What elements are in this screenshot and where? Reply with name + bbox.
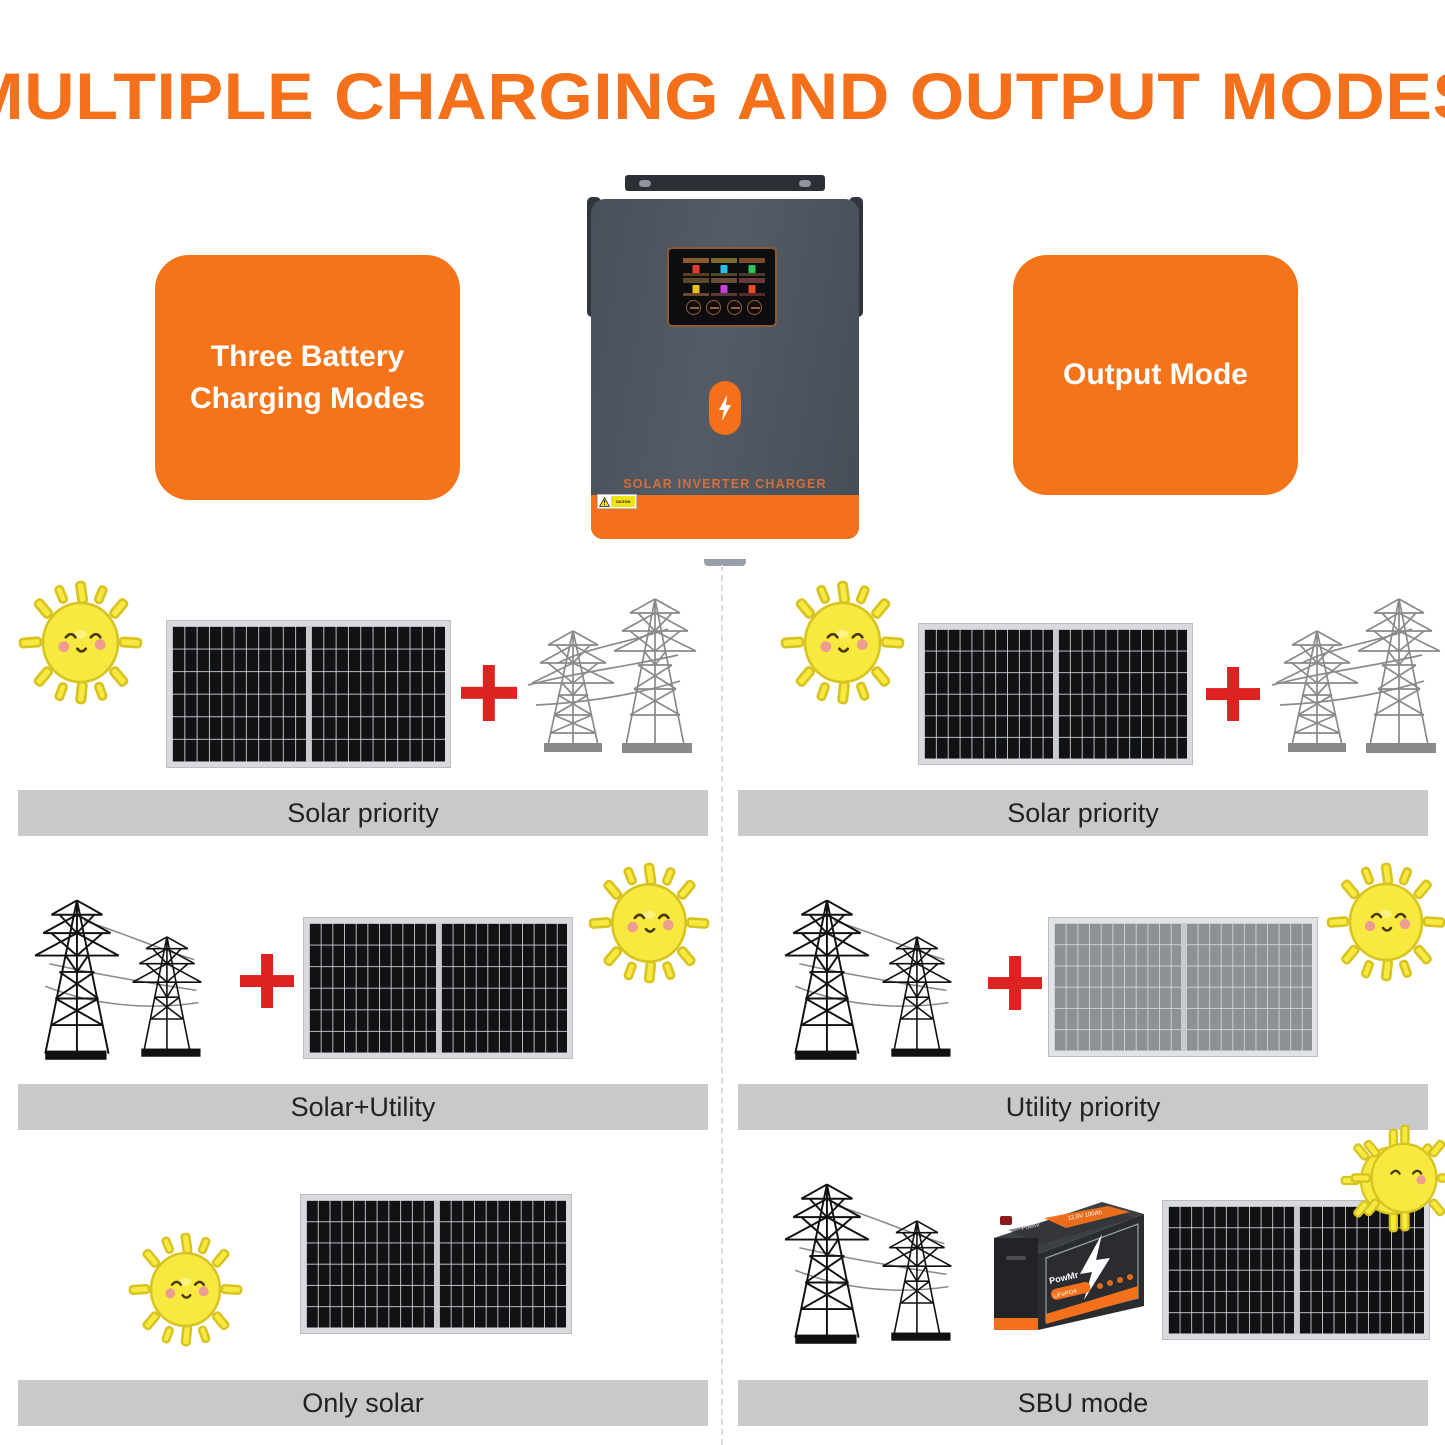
- label-chip-charging-modes: Three Battery Charging Modes: [155, 255, 460, 500]
- caption-bar: Utility priority: [738, 1084, 1428, 1130]
- solar-panel-disabled: [1048, 917, 1318, 1057]
- column-divider: [721, 565, 723, 1445]
- page-title: MULTIPLE CHARGING AND OUTPUT MODES: [0, 58, 1445, 134]
- lcd-screen: [667, 247, 777, 327]
- sun-icon: [780, 580, 905, 705]
- plus-icon: [461, 665, 517, 721]
- wall-mount-bracket: [625, 175, 825, 191]
- lcd-button-2[interactable]: [706, 300, 721, 315]
- inverter-brand-text: SOLAR INVERTER CHARGER: [591, 477, 859, 491]
- inverter-body: SOLAR INVERTER CHARGER CAUTION: [591, 199, 859, 539]
- transmission-towers: [1262, 585, 1445, 771]
- mode-card-output-sbu-mode: 12.8V 100Ah PowMr PowMr LiFePO4: [738, 1152, 1428, 1442]
- sun-icon: [588, 862, 710, 984]
- caption-label: SBU mode: [1018, 1388, 1149, 1419]
- lcd-button-row[interactable]: [686, 300, 762, 315]
- caption-label: Solar priority: [1007, 798, 1159, 829]
- lcd-icon-battery: [711, 258, 737, 276]
- chip-left-line1: Three Battery: [190, 336, 425, 377]
- lcd-icon-mode: [711, 278, 737, 296]
- transmission-towers: [28, 880, 228, 1070]
- plus-icon: [1206, 667, 1260, 721]
- caution-sticker: CAUTION: [597, 494, 637, 509]
- inverter-bottom-vent: [704, 559, 746, 566]
- warning-triangle-icon: [599, 497, 610, 507]
- infographic-page: MULTIPLE CHARGING AND OUTPUT MODES Three…: [0, 0, 1445, 1445]
- label-chip-output-mode: Output Mode: [1013, 255, 1298, 495]
- mode-card-charging-solar-priority: Solar priority: [18, 575, 708, 850]
- sun-icon: [128, 1232, 243, 1347]
- caption-bar: Solar priority: [18, 790, 708, 836]
- solar-panel: [300, 1194, 572, 1334]
- lcd-icon-solar: [683, 258, 709, 276]
- caption-bar: Only solar: [18, 1380, 708, 1426]
- caution-text: CAUTION: [611, 496, 635, 507]
- lcd-icon-load: [683, 278, 709, 296]
- caption-bar: Solar priority: [738, 790, 1428, 836]
- caption-label: Utility priority: [1006, 1092, 1161, 1123]
- sun-icon-partial: [1350, 1124, 1445, 1232]
- plus-icon: [240, 954, 294, 1008]
- chip-right-label: Output Mode: [1063, 354, 1248, 395]
- caption-label: Solar priority: [287, 798, 439, 829]
- caption-label: Solar+Utility: [291, 1092, 436, 1123]
- lcd-button-1[interactable]: [686, 300, 701, 315]
- lcd-button-4[interactable]: [747, 300, 762, 315]
- mode-card-output-solar-priority: Solar priority: [738, 575, 1428, 850]
- chip-left-line2: Charging Modes: [190, 378, 425, 419]
- lcd-icon-grid: [683, 258, 765, 296]
- solar-panel: [303, 917, 573, 1059]
- lcd-button-3[interactable]: [727, 300, 742, 315]
- solar-panel: [918, 623, 1193, 765]
- transmission-towers: [518, 585, 708, 771]
- mode-card-output-utility-priority: Utility priority: [738, 862, 1428, 1144]
- plus-icon: [988, 956, 1042, 1010]
- mode-card-charging-solar-utility: Solar+Utility: [18, 862, 708, 1144]
- transmission-towers: [778, 1164, 978, 1354]
- lcd-icon-fault: [739, 278, 765, 296]
- transmission-towers: [778, 880, 978, 1070]
- sun-icon: [1326, 862, 1445, 982]
- mode-card-charging-only-solar: Only solar: [18, 1152, 708, 1442]
- lightning-bolt-icon: [709, 381, 741, 435]
- caption-bar: Solar+Utility: [18, 1084, 708, 1130]
- caption-bar: SBU mode: [738, 1380, 1428, 1426]
- solar-panel: [166, 620, 451, 768]
- battery: 12.8V 100Ah PowMr PowMr LiFePO4: [984, 1200, 1152, 1350]
- solar-inverter-charger-product: SOLAR INVERTER CHARGER CAUTION: [565, 175, 885, 560]
- sun-icon: [18, 580, 143, 705]
- caption-label: Only solar: [302, 1388, 424, 1419]
- lcd-icon-grid-power: [739, 258, 765, 276]
